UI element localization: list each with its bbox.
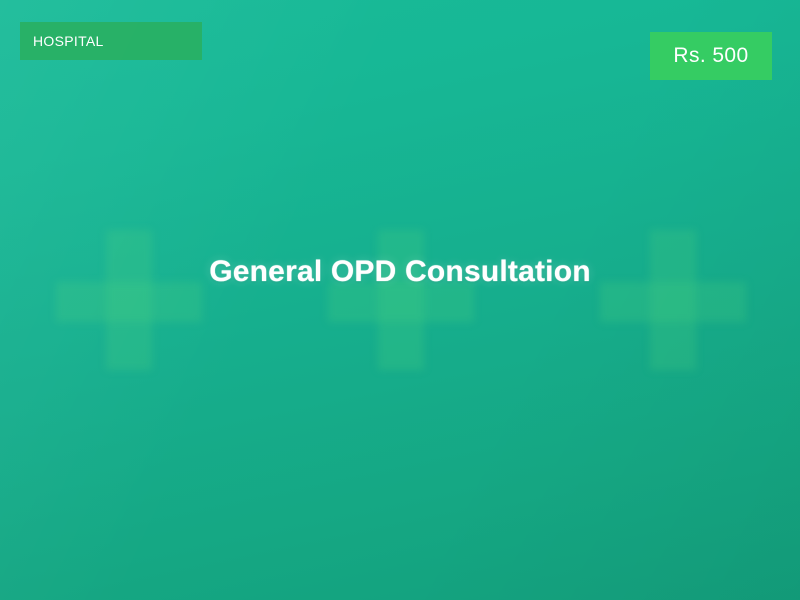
service-title-container: General OPD Consultation: [0, 250, 800, 294]
medical-cross-horizontal-bar: [328, 282, 474, 322]
background-watermark-pattern: [0, 0, 800, 600]
medical-cross-horizontal-bar: [56, 282, 202, 322]
medical-cross-vertical-bar: [650, 230, 696, 370]
medical-cross-vertical-bar: [378, 230, 424, 370]
medical-cross-vertical-bar: [106, 230, 152, 370]
service-card: HOSPITAL Rs. 500 General OPD Consultatio…: [0, 0, 800, 600]
medical-cross-icon: [56, 230, 202, 370]
medical-cross-horizontal-bar: [600, 282, 746, 322]
medical-cross-icon: [600, 230, 746, 370]
service-title: General OPD Consultation: [209, 255, 591, 289]
price-badge: Rs. 500: [650, 32, 772, 80]
medical-cross-icon: [328, 230, 474, 370]
price-badge-label: Rs. 500: [673, 44, 748, 68]
background-sheen-overlay: [0, 0, 800, 600]
category-badge-label: HOSPITAL: [33, 33, 104, 49]
category-badge: HOSPITAL: [20, 22, 202, 60]
